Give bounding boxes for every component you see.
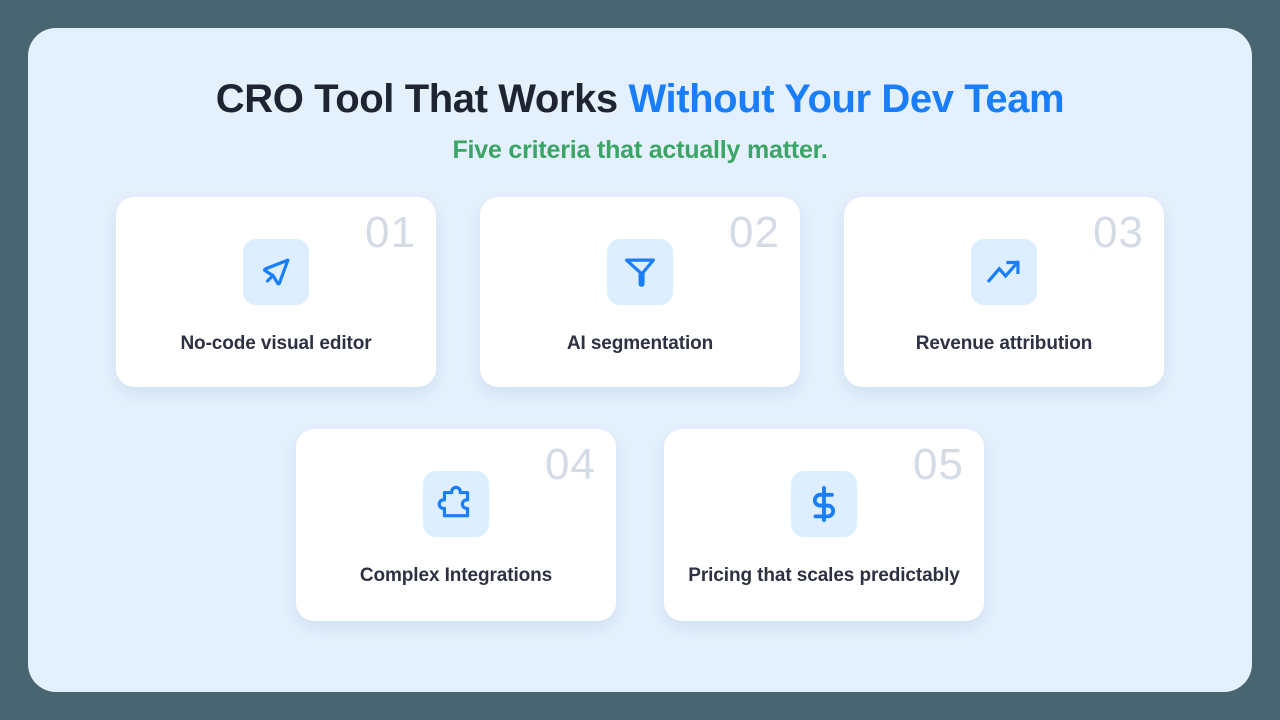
card-number: 01 <box>365 211 416 255</box>
criteria-row-2: 04 Complex Integrations 05 <box>28 429 1252 621</box>
trending-up-icon <box>985 253 1023 291</box>
card-label: Revenue attribution <box>902 331 1107 357</box>
criteria-grid: 01 No-code visual editor 02 <box>28 197 1252 621</box>
card-label: Pricing that scales predictably <box>674 563 973 589</box>
criteria-card-no-code-visual-editor[interactable]: 01 No-code visual editor <box>116 197 436 387</box>
criteria-card-pricing-that-scales-predictably[interactable]: 05 Pricing that scales predictably <box>664 429 984 621</box>
card-number: 05 <box>913 443 964 487</box>
criteria-card-complex-integrations[interactable]: 04 Complex Integrations <box>296 429 616 621</box>
card-label: No-code visual editor <box>166 331 385 357</box>
card-number: 03 <box>1093 211 1144 255</box>
icon-tile <box>243 239 309 305</box>
page-title: CRO Tool That Works Without Your Dev Tea… <box>28 78 1252 120</box>
card-label: AI segmentation <box>553 331 727 357</box>
header: CRO Tool That Works Without Your Dev Tea… <box>28 28 1252 165</box>
card-number: 04 <box>545 443 596 487</box>
funnel-filter-icon <box>621 253 659 291</box>
page-title-dark: CRO Tool That Works <box>216 77 629 121</box>
card-number: 02 <box>729 211 780 255</box>
page-title-highlight: Without Your Dev Team <box>629 77 1065 121</box>
icon-tile <box>607 239 673 305</box>
cursor-arrow-icon <box>257 253 295 291</box>
puzzle-piece-icon <box>437 485 475 523</box>
card-label: Complex Integrations <box>346 563 566 589</box>
criteria-card-revenue-attribution[interactable]: 03 Revenue attribution <box>844 197 1164 387</box>
content-panel: CRO Tool That Works Without Your Dev Tea… <box>28 28 1252 692</box>
icon-tile <box>971 239 1037 305</box>
criteria-card-ai-segmentation[interactable]: 02 AI segmentation <box>480 197 800 387</box>
icon-tile <box>791 471 857 537</box>
page-subtitle: Five criteria that actually matter. <box>28 136 1252 165</box>
criteria-row-1: 01 No-code visual editor 02 <box>28 197 1252 387</box>
icon-tile <box>423 471 489 537</box>
dollar-sign-icon <box>805 485 843 523</box>
